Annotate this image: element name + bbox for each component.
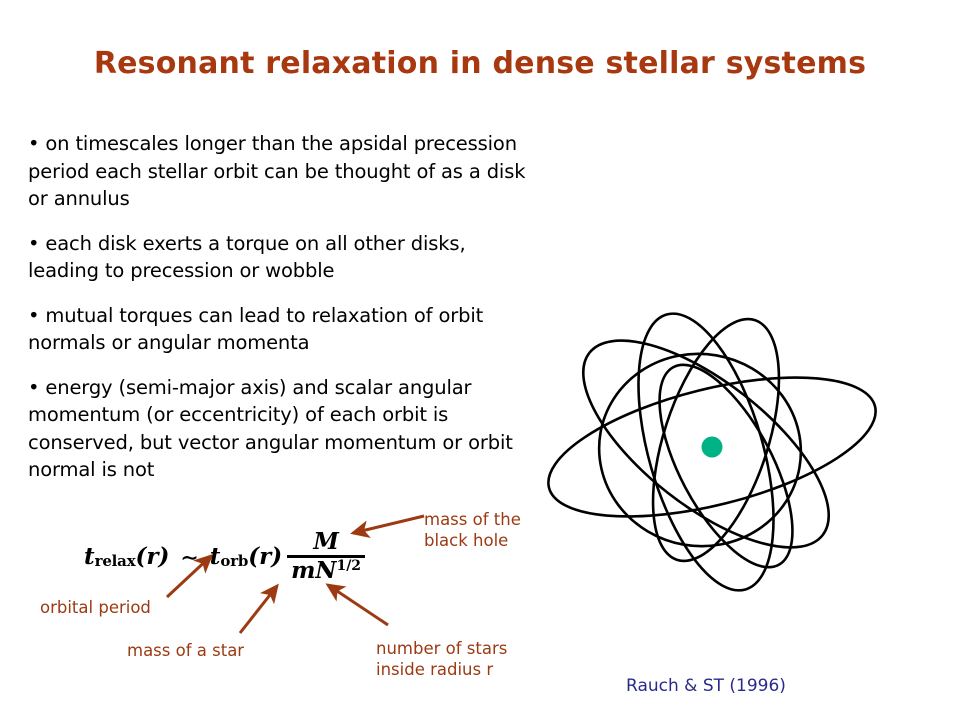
callout-orbital-period: orbital period [40, 597, 151, 618]
bullet-item-timescales: • on timescales longer than the apsidal … [28, 130, 528, 213]
bullet-item-torque: • each disk exerts a torque on all other… [28, 230, 528, 285]
orbit-ellipse-1 [535, 350, 889, 544]
equation-fraction-denominator: mN1/2 [287, 559, 365, 583]
equation-rhs-argument: (r) [248, 543, 282, 570]
equation-fraction: M mN1/2 [287, 530, 365, 583]
equation-rhs-subscript: orb [220, 552, 248, 570]
callout-number-of-stars: number of stars inside radius r [376, 638, 507, 680]
callout-mass-of-black-hole: mass of the black hole [424, 509, 521, 551]
equation-fraction-numerator: M [309, 530, 342, 554]
orbit-ellipse-5 [584, 338, 816, 562]
orbit-ellipse-6 [633, 346, 819, 587]
orbit-ellipse-3 [612, 299, 800, 605]
equation-denominator-exponent: 1/2 [336, 558, 361, 574]
central-black-hole-dot [702, 437, 723, 458]
page-title: Resonant relaxation in dense stellar sys… [0, 46, 960, 81]
orbit-ellipse-2 [551, 304, 861, 584]
bullet-item-energy: • energy (semi-major axis) and scalar an… [28, 374, 528, 484]
orbit-ellipses [535, 299, 889, 605]
equation-denominator-mass: m [291, 557, 315, 584]
orbit-ellipse-4 [628, 304, 805, 576]
equation-relation: ∼ [180, 545, 198, 571]
equation-lhs-symbol: t [84, 543, 95, 570]
equation-lhs-subscript: relax [95, 552, 136, 570]
equation-rhs-symbol: t [210, 543, 221, 570]
equation-lhs-argument: (r) [135, 543, 169, 570]
relaxation-time-equation: trelax(r) ∼ torb(r) M mN1/2 [84, 530, 365, 583]
bullet-list: • on timescales longer than the apsidal … [28, 130, 528, 484]
arrow-to-m [240, 586, 277, 633]
callout-mass-of-a-star: mass of a star [127, 640, 244, 661]
bullet-item-mutual-torques: • mutual torques can lead to relaxation … [28, 302, 528, 357]
citation-credit: Rauch & ST (1996) [626, 676, 786, 696]
arrow-to-N [328, 585, 388, 625]
equation-denominator-number: N [315, 557, 336, 584]
